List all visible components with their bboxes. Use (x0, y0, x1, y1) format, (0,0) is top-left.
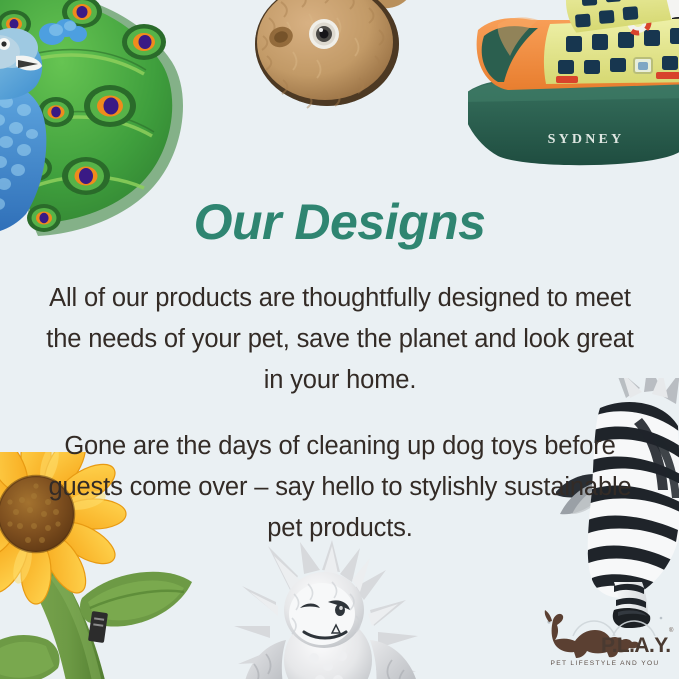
zebra-plush-toy (556, 378, 679, 628)
play-brand-logo: P.L.A.Y. ® PET LIFESTYLE AND YOU (535, 608, 675, 670)
paragraph-design-philosophy: All of our products are thoughtfully des… (40, 278, 640, 401)
sydney-ferry-plush-toy: SYDNEY (468, 0, 679, 178)
peacock-plush-toy (0, 0, 196, 245)
product-lifestyle-banner: SYDNEY (0, 0, 679, 679)
logo-wordmark: P.L.A.Y. (601, 634, 671, 657)
yeti-plush-toy (228, 540, 428, 679)
moose-plush-toy (251, 0, 426, 117)
registered-mark: ® (669, 627, 674, 634)
logo-tagline: PET LIFESTYLE AND YOU (550, 660, 659, 667)
sparkle-dots (547, 616, 662, 624)
svg-text:SYDNEY: SYDNEY (548, 132, 625, 147)
sunflower-plush-toy (0, 452, 200, 679)
